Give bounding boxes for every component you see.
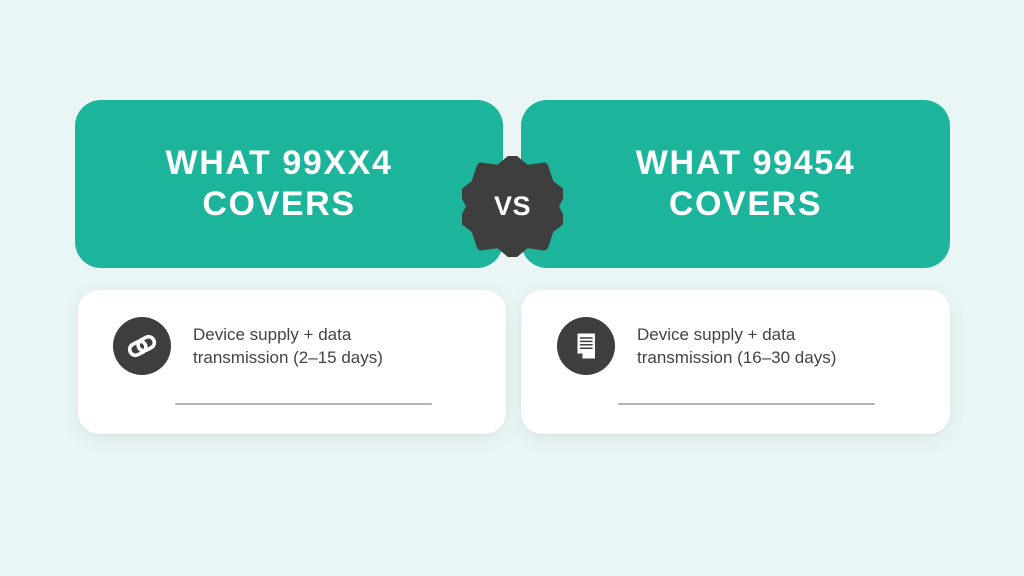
left-header-title: WHAT 99XX4 COVERS [111, 143, 447, 225]
right-card-row: Device supply + data transmission (16–30… [557, 317, 836, 375]
left-detail-card: Device supply + data transmission (2–15 … [78, 290, 506, 434]
comparison-infographic: WHAT 99XX4 COVERS WHAT 99454 COVERS VS [0, 0, 1024, 576]
vs-badge: VS [462, 156, 563, 257]
document-page-icon [569, 329, 603, 363]
right-card-text: Device supply + data transmission (16–30… [637, 323, 836, 369]
left-card-row: Device supply + data transmission (2–15 … [113, 317, 383, 375]
right-header-title: WHAT 99454 COVERS [577, 143, 914, 225]
vs-label: VS [494, 193, 531, 220]
right-header-bar: WHAT 99454 COVERS [521, 100, 950, 268]
right-icon-circle [557, 317, 615, 375]
right-detail-card: Device supply + data transmission (16–30… [521, 290, 950, 434]
link-chain-icon [125, 329, 159, 363]
left-card-divider [175, 403, 432, 405]
left-icon-circle [113, 317, 171, 375]
left-card-text: Device supply + data transmission (2–15 … [193, 323, 383, 369]
left-header-bar: WHAT 99XX4 COVERS [75, 100, 503, 268]
right-card-divider [618, 403, 875, 405]
